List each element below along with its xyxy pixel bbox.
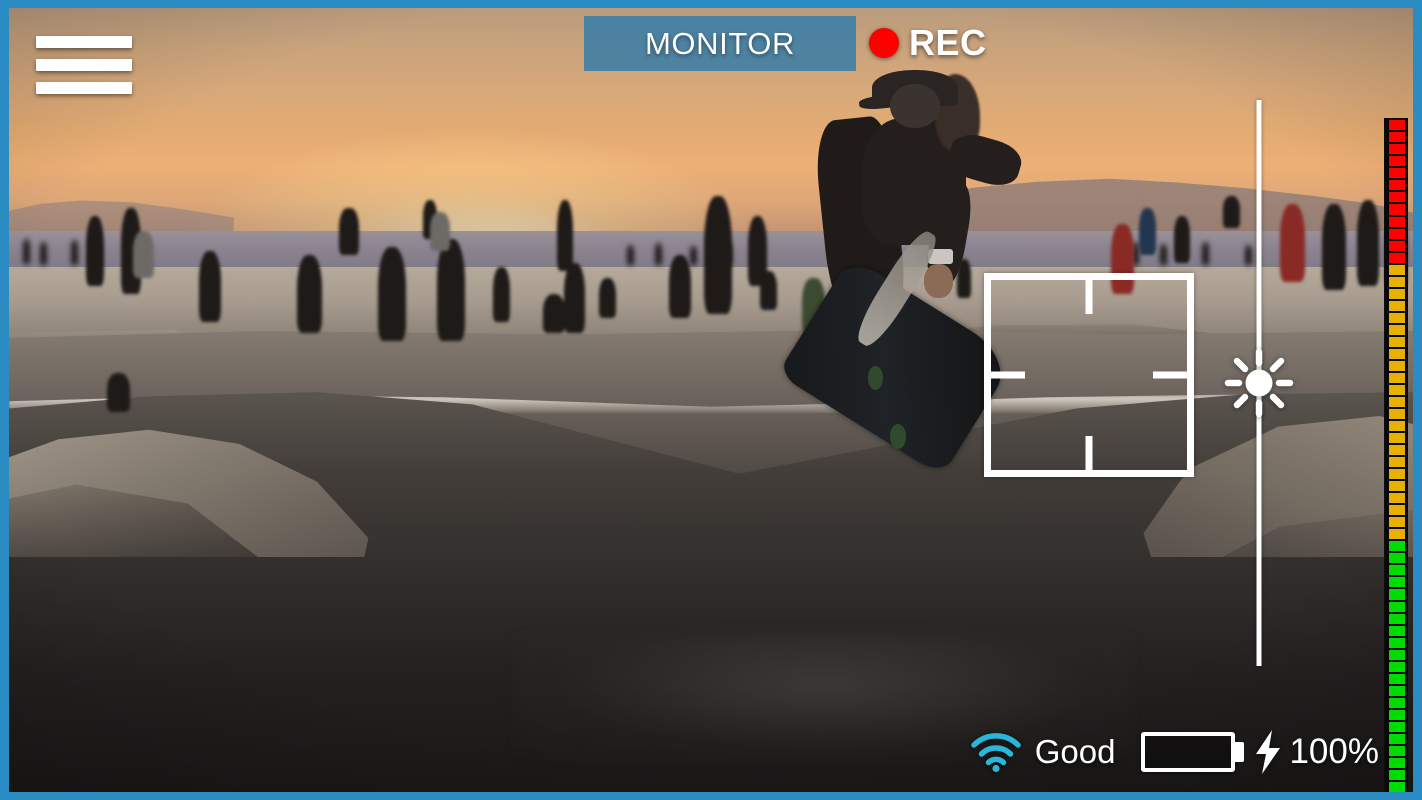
audio-meter-segment-amber [1389,409,1405,419]
menu-bar [36,36,132,48]
audio-meter-segment-amber [1389,349,1405,359]
audio-meter-segment-green [1389,638,1405,648]
menu-bar [36,82,132,94]
audio-meter-segment-red [1389,192,1405,202]
camera-app-window: MONITOR REC [0,0,1422,800]
wifi-icon [969,731,1023,773]
audio-meter-segment-red [1389,217,1405,227]
lightning-bolt-icon [1253,730,1283,774]
brightness-slider[interactable] [1239,100,1279,666]
audio-meter-segment-green [1389,553,1405,563]
battery-icon [1141,732,1235,772]
battery-terminal [1234,742,1244,762]
audio-meter-segment-red [1389,156,1405,166]
audio-meter-segment-green [1389,686,1405,696]
battery-percent-label: 100% [1289,732,1379,772]
focus-tick-left [991,372,1025,379]
record-label: REC [909,22,987,64]
audio-meter-segment-amber [1389,445,1405,455]
status-badge-recording[interactable]: REC [869,18,987,68]
audio-meter-segment-red [1389,180,1405,190]
audio-meter-segment-amber [1389,457,1405,467]
audio-meter-segment-amber [1389,313,1405,323]
audio-meter-segment-amber [1389,361,1405,371]
audio-meter-segment-amber [1389,301,1405,311]
audio-meter-segment-amber [1389,421,1405,431]
audio-meter-segment-green [1389,710,1405,720]
tab-monitor-label: MONITOR [645,26,795,62]
audio-meter-segment-green [1389,565,1405,575]
audio-meter-segment-amber [1389,373,1405,383]
audio-meter-segment-amber [1389,325,1405,335]
audio-meter-segment-green [1389,626,1405,636]
focus-tick-bottom [1086,436,1093,470]
audio-meter-segment-red [1389,168,1405,178]
audio-meter-segment-red [1389,229,1405,239]
audio-meter-segment-green [1389,662,1405,672]
viewfinder-preview[interactable]: MONITOR REC [9,8,1413,792]
audio-meter-segment-amber [1389,481,1405,491]
hamburger-menu-icon[interactable] [36,30,132,100]
audio-meter-segment-amber [1389,493,1405,503]
audio-meter-segment-amber [1389,385,1405,395]
audio-meter-segment-green [1389,650,1405,660]
audio-meter-segment-amber [1389,337,1405,347]
audio-meter-segment-amber [1389,289,1405,299]
audio-meter-segment-amber [1389,529,1405,539]
tab-monitor[interactable]: MONITOR [584,16,856,71]
audio-meter-segment-green [1389,541,1405,551]
record-dot-icon [869,28,899,58]
audio-meter-segment-red [1389,132,1405,142]
audio-meter-segment-amber [1389,397,1405,407]
audio-meter-segment-red [1389,120,1405,130]
audio-meter-segment-green [1389,698,1405,708]
audio-meter-segment-red [1389,144,1405,154]
focus-tick-top [1086,280,1093,314]
audio-meter-segment-amber [1389,265,1405,275]
status-bar: Good 100% [9,720,1413,784]
audio-meter-segment-green [1389,614,1405,624]
audio-level-meter [1384,118,1408,792]
audio-meter-segment-green [1389,602,1405,612]
audio-meter-segment-green [1389,674,1405,684]
wifi-strength-label: Good [1035,733,1116,771]
wifi-status[interactable]: Good [969,731,1116,773]
audio-meter-segment-red [1389,253,1405,263]
focus-reticle[interactable] [984,273,1194,477]
sun-icon[interactable] [1223,347,1295,419]
audio-meter-segment-amber [1389,277,1405,287]
battery-status[interactable]: 100% [1141,730,1379,774]
audio-meter-segment-red [1389,241,1405,251]
focus-tick-right [1153,372,1187,379]
audio-meter-segment-amber [1389,505,1405,515]
menu-bar [36,59,132,71]
audio-meter-segment-green [1389,577,1405,587]
audio-meter-segment-amber [1389,517,1405,527]
audio-meter-segment-amber [1389,469,1405,479]
audio-meter-segment-amber [1389,433,1405,443]
audio-meter-segment-red [1389,204,1405,214]
audio-meter-segment-green [1389,589,1405,599]
hud-overlay: MONITOR REC [9,8,1413,792]
